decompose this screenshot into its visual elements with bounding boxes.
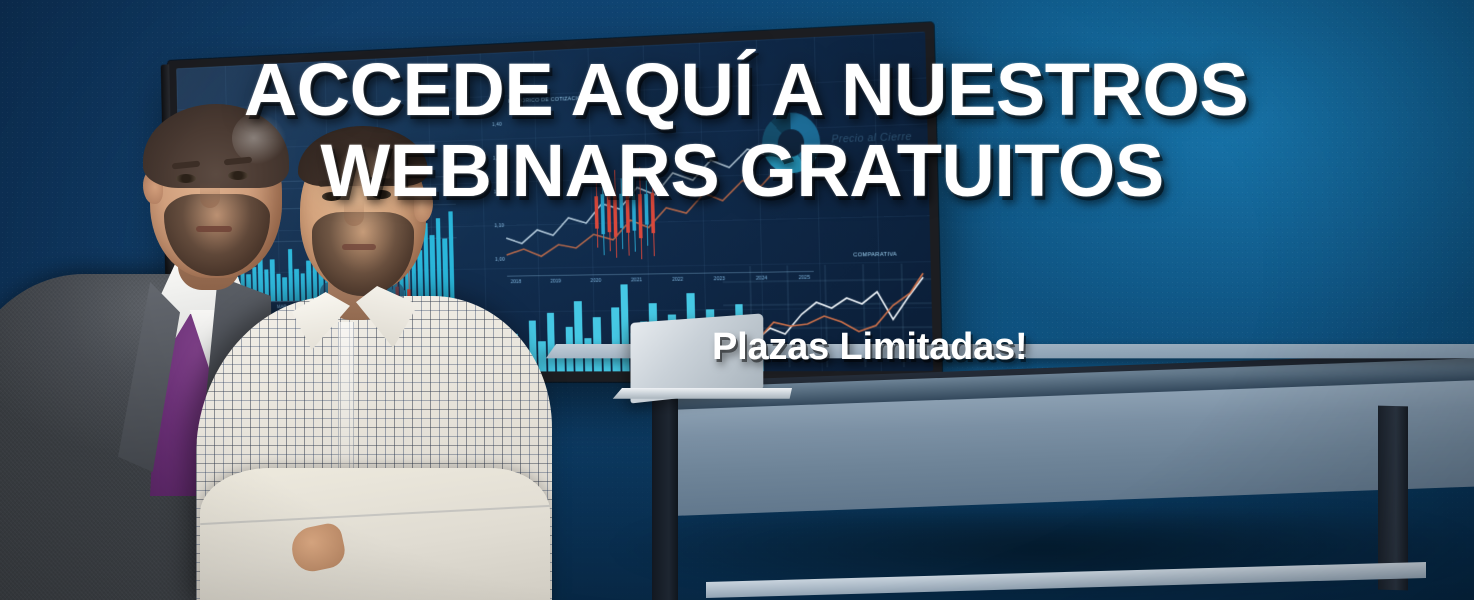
image-vignette [0, 0, 1474, 600]
webinar-promo-banner: VOLUMEN 0,0250 0,0200 0,0150 0,0100 0,00… [0, 0, 1474, 600]
